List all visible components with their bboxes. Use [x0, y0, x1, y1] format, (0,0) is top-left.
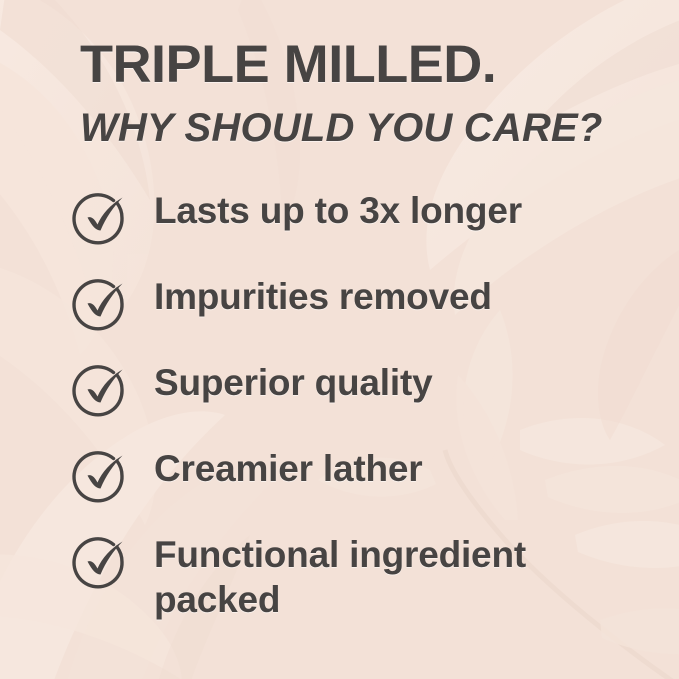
circled-check-icon: [72, 362, 132, 418]
list-item: Functional ingredient packed: [72, 532, 649, 618]
page-title: TRIPLE MILLED.: [80, 38, 651, 91]
page-subtitle: WHY SHOULD YOU CARE?: [80, 108, 640, 148]
circled-check-icon: [72, 276, 132, 332]
promo-poster: TRIPLE MILLED. WHY SHOULD YOU CARE? Last…: [0, 0, 679, 679]
headline-block: TRIPLE MILLED. WHY SHOULD YOU CARE?: [80, 38, 640, 148]
benefit-label: Functional ingredient packed: [154, 532, 584, 622]
benefits-list: Lasts up to 3x longer Impurities removed: [72, 188, 649, 618]
benefit-label: Impurities removed: [154, 274, 584, 319]
list-item: Superior quality: [72, 360, 649, 446]
circled-check-icon: [72, 190, 132, 246]
poster-content: TRIPLE MILLED. WHY SHOULD YOU CARE? Last…: [0, 0, 679, 679]
benefit-label: Superior quality: [154, 360, 584, 405]
circled-check-icon: [72, 534, 132, 590]
circled-check-icon: [72, 448, 132, 504]
benefit-label: Creamier lather: [154, 446, 584, 491]
benefit-label: Lasts up to 3x longer: [154, 188, 584, 233]
list-item: Impurities removed: [72, 274, 649, 360]
list-item: Lasts up to 3x longer: [72, 188, 649, 274]
list-item: Creamier lather: [72, 446, 649, 532]
